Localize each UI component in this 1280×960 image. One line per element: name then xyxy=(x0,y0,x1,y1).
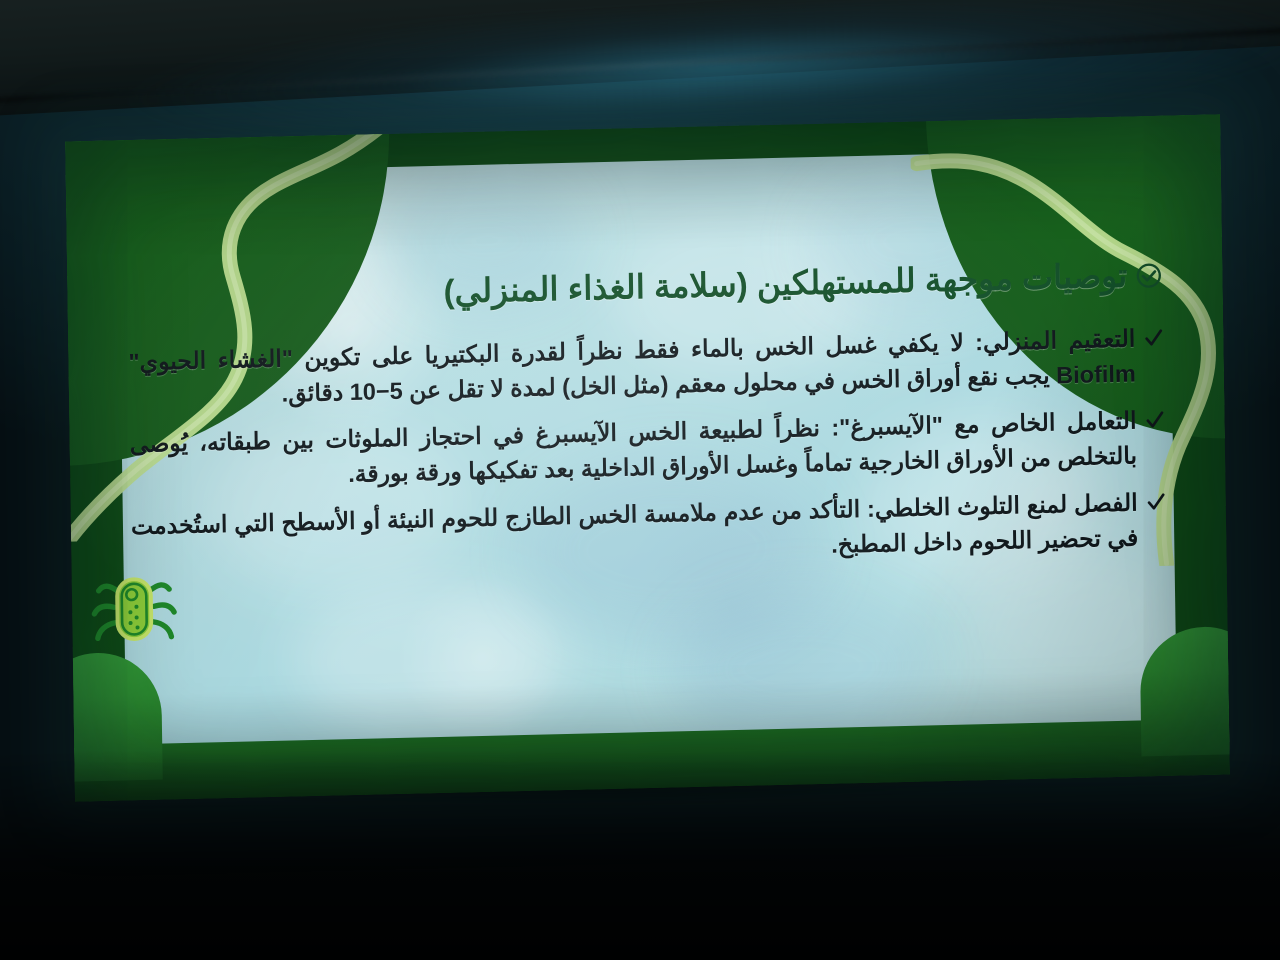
projected-slide: توصيات موجهة للمستهلكين (سلامة الغذاء ال… xyxy=(65,114,1229,801)
list-item-label: الفصل لمنع التلوث الخلطي: التأكد من عدم … xyxy=(131,486,1139,579)
list-item: التعامل الخاص مع "الآيسبرغ": نظراً لطبيع… xyxy=(130,403,1166,496)
floor-shadow xyxy=(0,750,1280,960)
room-background: توصيات موجهة للمستهلكين (سلامة الغذاء ال… xyxy=(0,0,1280,960)
bacteria-icon xyxy=(88,567,181,651)
list-item: الفصل لمنع التلوث الخلطي: التأكد من عدم … xyxy=(131,485,1167,578)
check-icon xyxy=(1144,327,1163,349)
slide-content: توصيات موجهة للمستهلكين (سلامة الغذاء ال… xyxy=(127,234,1167,592)
check-icon xyxy=(1147,491,1166,513)
recommendations-list: التعقيم المنزلي: لا يكفي غسل الخس بالماء… xyxy=(128,321,1166,579)
page-title: توصيات موجهة للمستهلكين (سلامة الغذاء ال… xyxy=(443,257,1127,312)
circle-check-icon xyxy=(1135,262,1162,290)
check-icon xyxy=(1145,409,1164,431)
list-item-label: التعامل الخاص مع "الآيسبرغ": نظراً لطبيع… xyxy=(130,404,1138,497)
